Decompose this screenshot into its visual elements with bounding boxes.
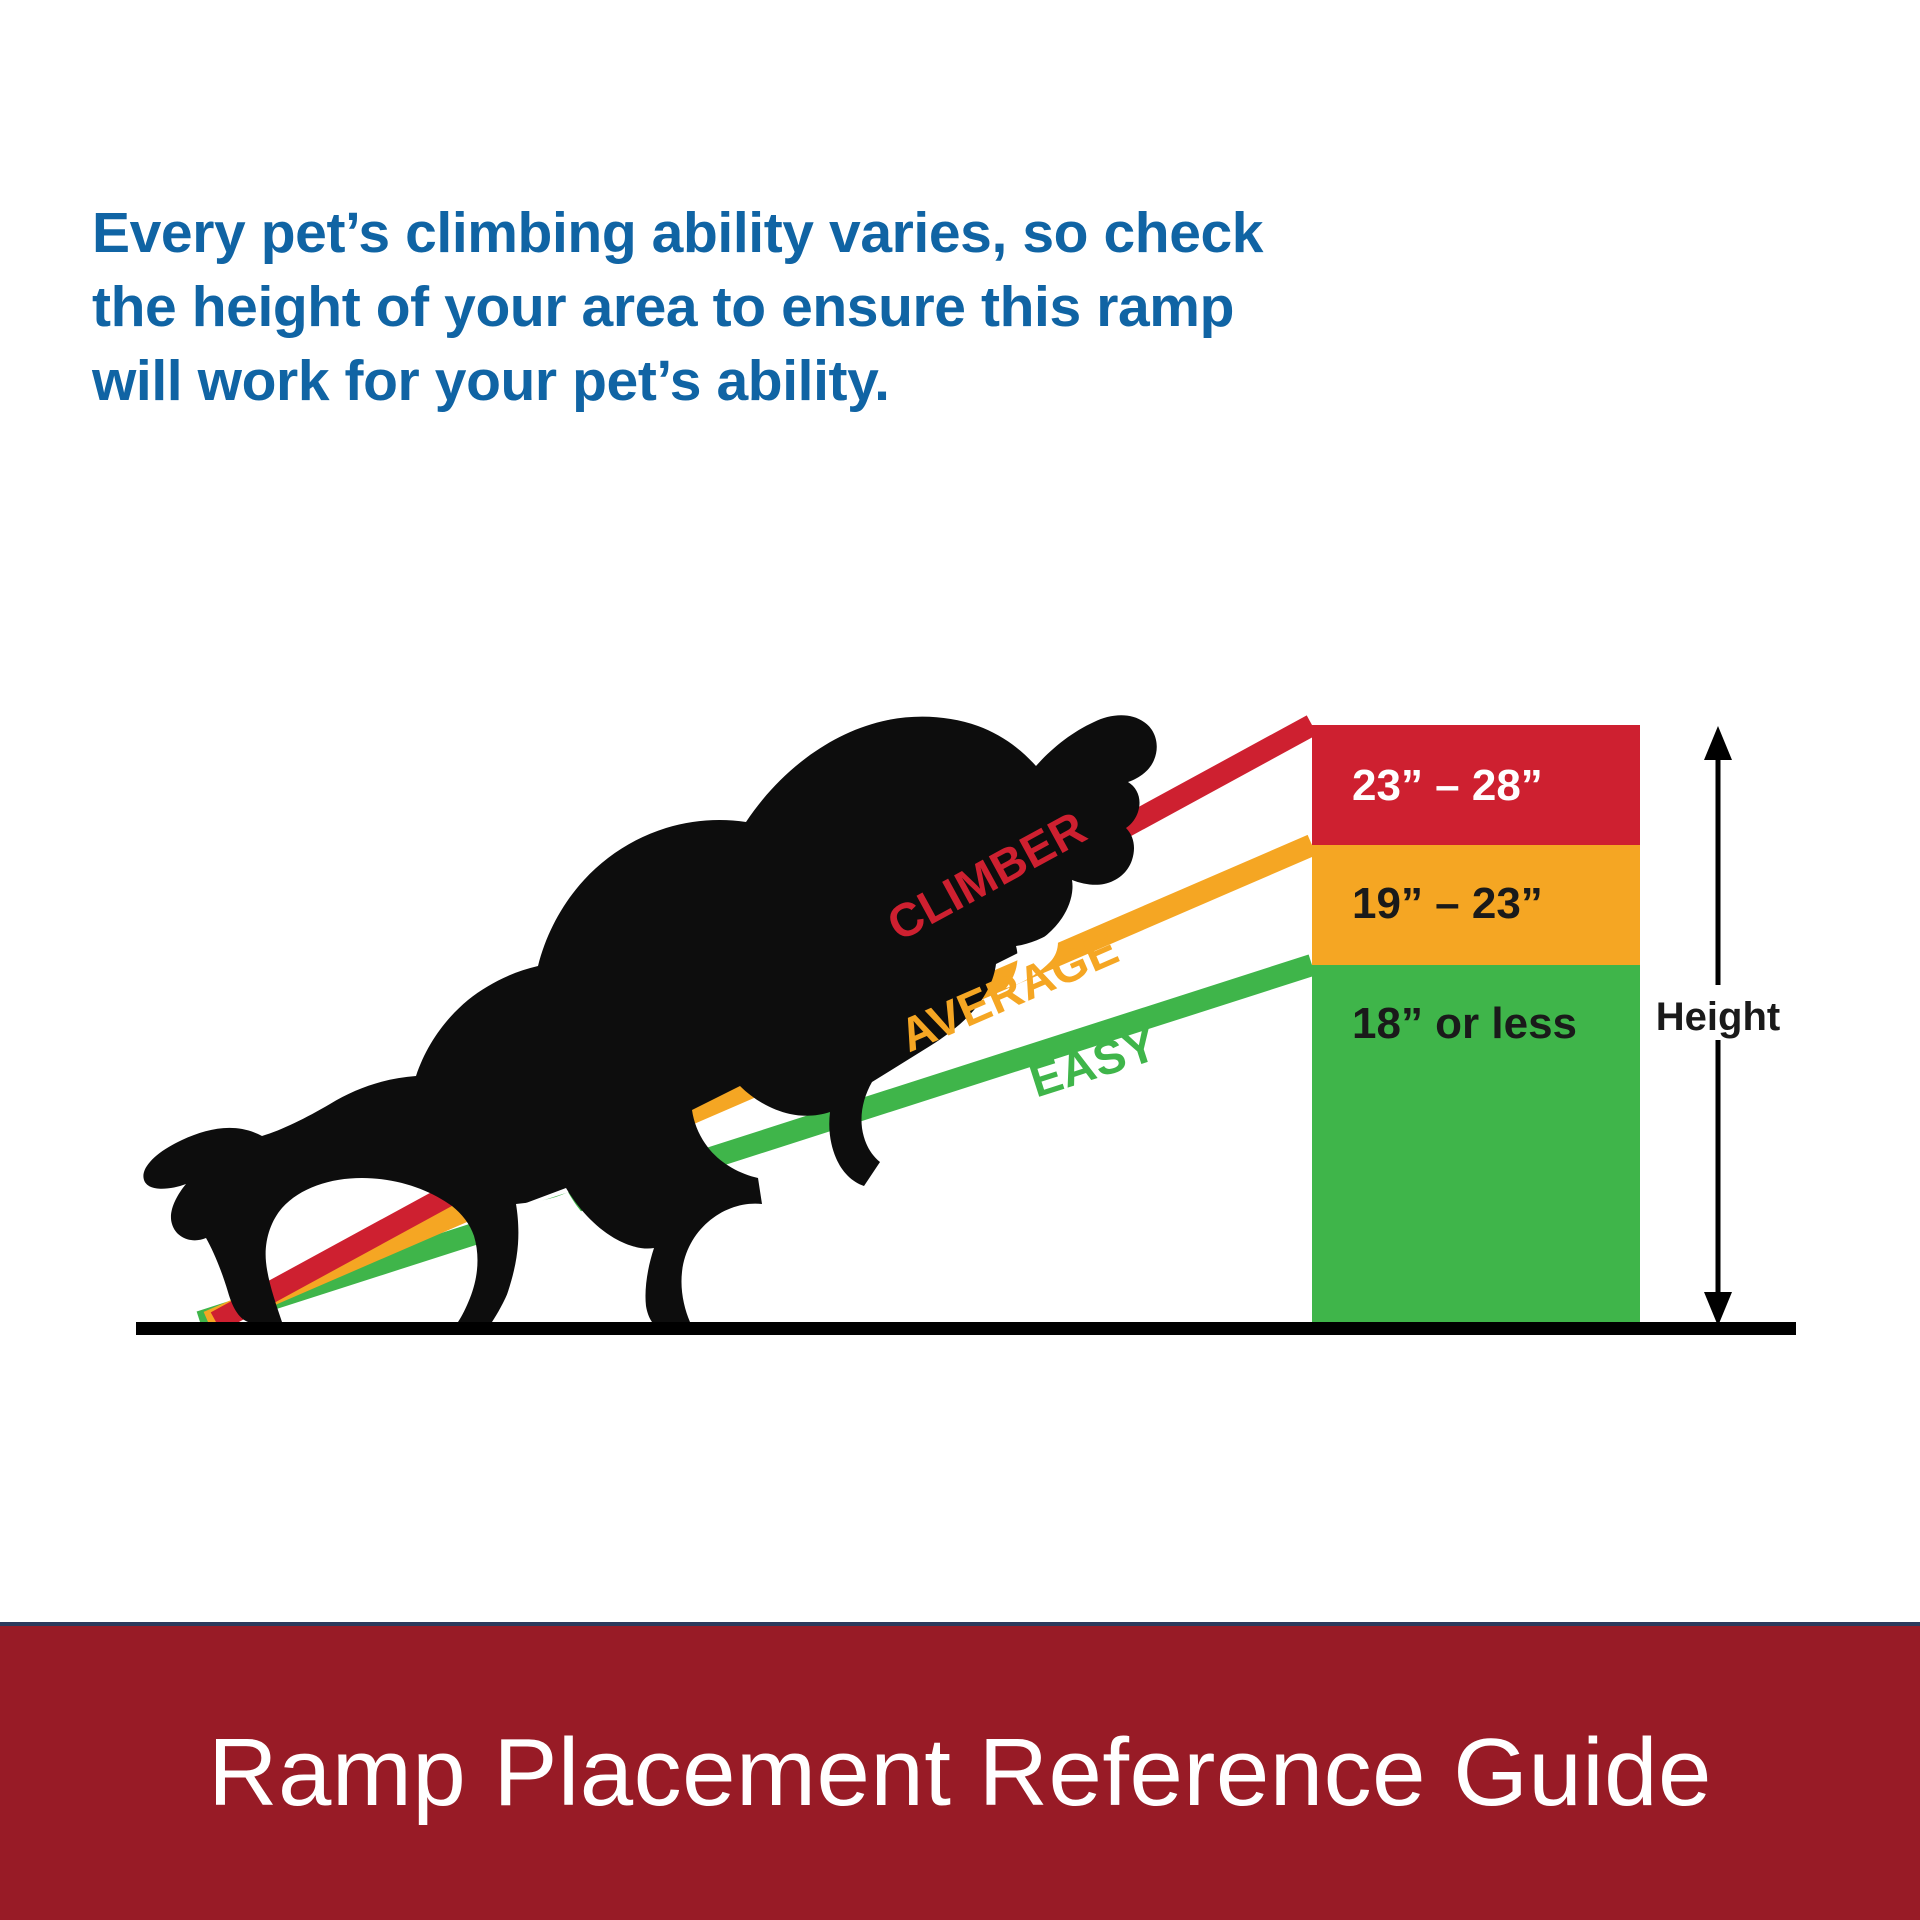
ground-line <box>136 1322 1796 1335</box>
bottom-banner: Ramp Placement Reference Guide <box>0 1622 1920 1920</box>
height-arrow-head-top <box>1704 726 1732 760</box>
height-measure: Height <box>1656 726 1780 1326</box>
height-label: Height <box>1656 995 1780 1039</box>
poster-canvas: Every pet’s climbing ability varies, so … <box>0 0 1920 1920</box>
banner-title: Ramp Placement Reference Guide <box>0 1626 1920 1920</box>
height-arrow-head-bottom <box>1704 1292 1732 1326</box>
bar-label-easy: 18” or less <box>1352 999 1577 1048</box>
ramp-diagram: CLIMBER AVERAGE EASY 23” – 28” 19” – 23”… <box>0 0 1920 1450</box>
bar-label-climber: 23” – 28” <box>1352 761 1543 810</box>
bar-label-average: 19” – 23” <box>1352 879 1543 928</box>
